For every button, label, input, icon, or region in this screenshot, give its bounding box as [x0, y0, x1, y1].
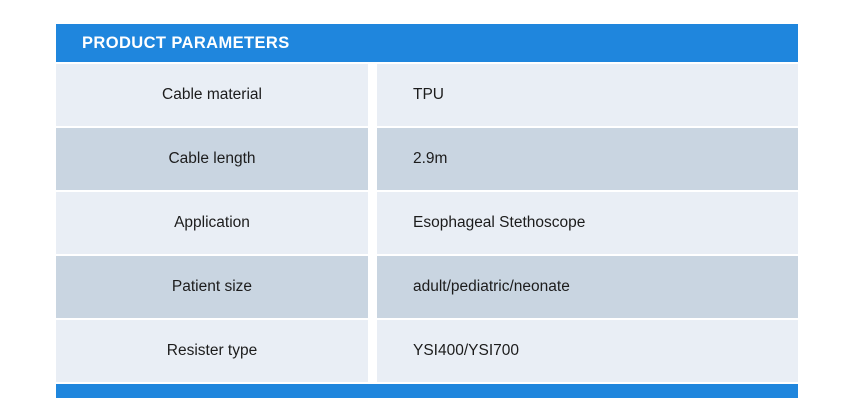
table-cell-label: Cable length — [56, 128, 368, 190]
parameter-value: 2.9m — [413, 150, 447, 169]
table-row: Cable materialTPU — [56, 64, 798, 126]
parameter-value: YSI400/YSI700 — [413, 342, 519, 361]
table-cell-label: Patient size — [56, 256, 368, 318]
column-divider — [368, 256, 377, 318]
table-cell-value: adult/pediatric/neonate — [377, 256, 798, 318]
table-row: Patient sizeadult/pediatric/neonate — [56, 256, 798, 318]
column-divider — [368, 320, 377, 382]
table-cell-label: Application — [56, 192, 368, 254]
table-body: Cable materialTPUCable length2.9mApplica… — [56, 62, 798, 382]
table-cell-value: YSI400/YSI700 — [377, 320, 798, 382]
table-cell-label: Resister type — [56, 320, 368, 382]
table-footer-bar — [56, 384, 798, 398]
parameter-value: adult/pediatric/neonate — [413, 278, 570, 297]
parameter-value: TPU — [413, 86, 444, 105]
table-cell-value: TPU — [377, 64, 798, 126]
table-row: Resister typeYSI400/YSI700 — [56, 320, 798, 382]
parameter-value: Esophageal Stethoscope — [413, 214, 585, 233]
parameter-label: Application — [174, 214, 250, 233]
parameter-label: Resister type — [167, 342, 257, 361]
table-row: ApplicationEsophageal Stethoscope — [56, 192, 798, 254]
page-title: PRODUCT PARAMETERS — [82, 35, 290, 52]
table-cell-value: Esophageal Stethoscope — [377, 192, 798, 254]
parameter-label: Patient size — [172, 278, 252, 297]
table-header-bar: PRODUCT PARAMETERS — [56, 24, 798, 62]
parameter-label: Cable length — [168, 150, 255, 169]
table-row: Cable length2.9m — [56, 128, 798, 190]
column-divider — [368, 64, 377, 126]
table-cell-value: 2.9m — [377, 128, 798, 190]
column-divider — [368, 192, 377, 254]
column-divider — [368, 128, 377, 190]
product-parameters-table: PRODUCT PARAMETERS Cable materialTPUCabl… — [56, 24, 798, 398]
parameter-label: Cable material — [162, 86, 262, 105]
table-cell-label: Cable material — [56, 64, 368, 126]
